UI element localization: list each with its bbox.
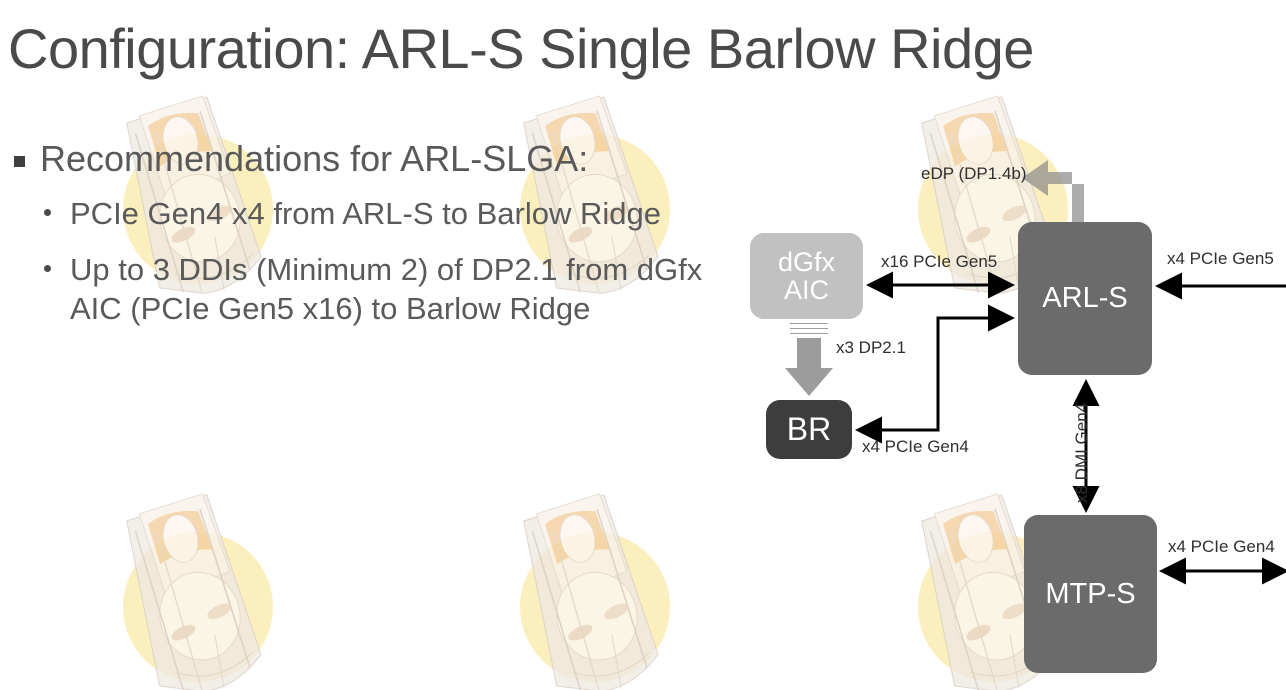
edge-label-br-arls: x4 PCIe Gen4 [862, 437, 969, 457]
edge-label-dgfx-br: x3 DP2.1 [836, 338, 906, 358]
node-mtps-label: MTP-S [1045, 579, 1135, 609]
edge-br-arls-elbow [858, 318, 1012, 430]
node-arls-label: ARL-S [1042, 283, 1127, 313]
node-br-label: BR [787, 413, 831, 447]
edge-dgfx-br-block-arrow [785, 323, 833, 396]
node-br[interactable]: BR [766, 400, 852, 459]
edge-edp-block-arrow [1022, 160, 1084, 228]
edge-label-arls-right: x4 PCIe Gen5 [1167, 249, 1274, 269]
edge-label-mtps-right: x4 PCIe Gen4 [1168, 537, 1275, 557]
node-arls[interactable]: ARL-S [1018, 222, 1152, 375]
block-diagram: dGfx AIC BR ARL-S MTP-S eDP (DP1.4b) x16… [0, 0, 1286, 690]
node-mtps[interactable]: MTP-S [1024, 515, 1157, 673]
edge-label-edp: eDP (DP1.4b) [921, 164, 1027, 184]
slide-canvas: Configuration: ARL-S Single Barlow Ridge… [0, 0, 1286, 690]
node-dgfx-aic-label-line2: AIC [784, 275, 829, 305]
node-dgfx-aic-label: dGfx AIC [778, 248, 835, 305]
edge-label-arls-mtps: x8 DMI Gen4 [1072, 403, 1092, 503]
edge-label-dgfx-arls: x16 PCIe Gen5 [881, 252, 997, 272]
node-dgfx-aic[interactable]: dGfx AIC [750, 233, 863, 319]
node-dgfx-aic-label-line1: dGfx [778, 247, 835, 277]
